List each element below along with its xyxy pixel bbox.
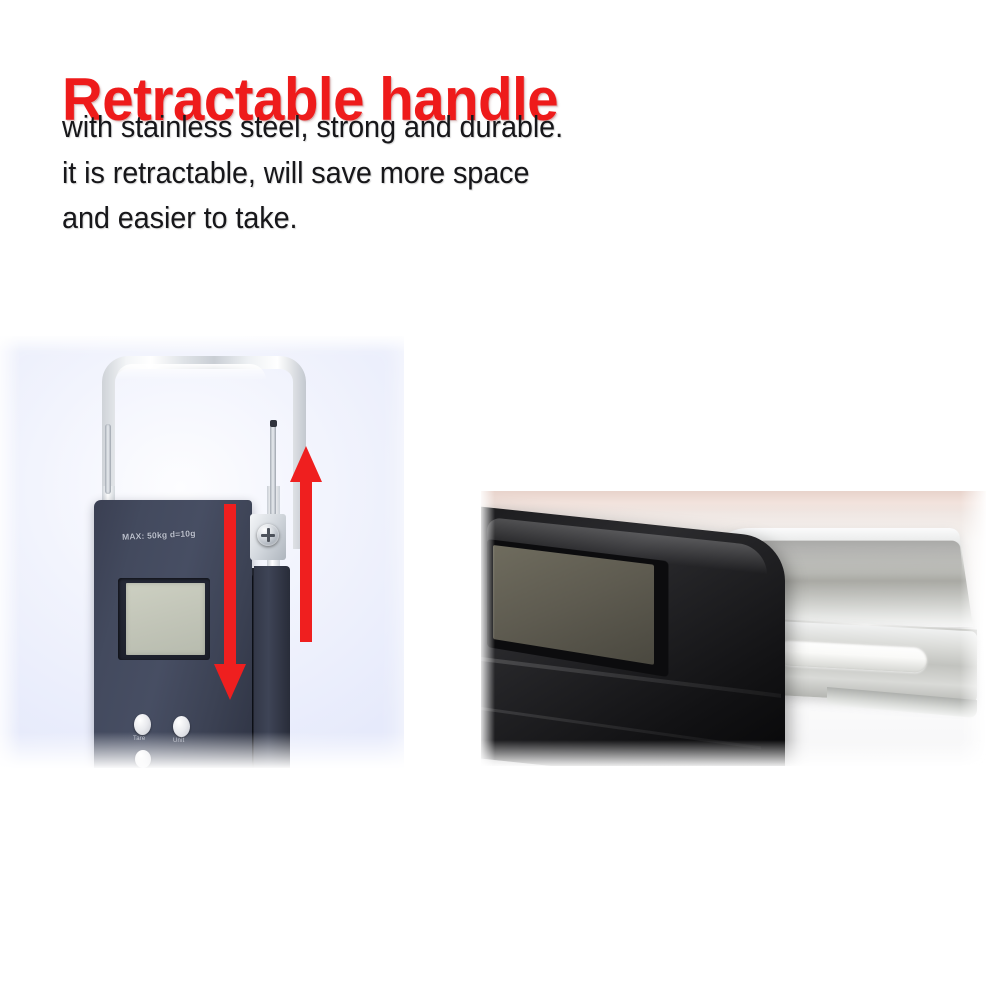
description-line-3: and easier to take.	[62, 195, 563, 241]
description-line-2: it is retractable, will save more space	[62, 150, 563, 196]
lcd-display	[126, 583, 205, 655]
handle-screw	[257, 524, 279, 546]
tare-button[interactable]	[134, 714, 151, 735]
description-paragraph: with stainless steel, strong and durable…	[62, 104, 563, 241]
retractable-handle-extended-photo: MAX: 50kg d=10g Tare Unit	[0, 336, 404, 768]
unit-button[interactable]	[173, 716, 190, 737]
unit-button-label: Unit	[173, 738, 184, 744]
tare-button-label: Tare	[133, 736, 145, 742]
description-line-1: with stainless steel, strong and durable…	[62, 104, 563, 150]
handle-slot-left	[105, 424, 111, 494]
handle-slot-right	[270, 420, 276, 516]
handle-screw-closeup-photo	[481, 491, 986, 766]
power-button[interactable]	[135, 750, 151, 768]
arrow-down-icon	[212, 504, 248, 704]
arrow-up-icon	[288, 446, 324, 642]
handle-slot-notch	[270, 420, 277, 427]
scale-body-side-rail	[254, 566, 290, 768]
